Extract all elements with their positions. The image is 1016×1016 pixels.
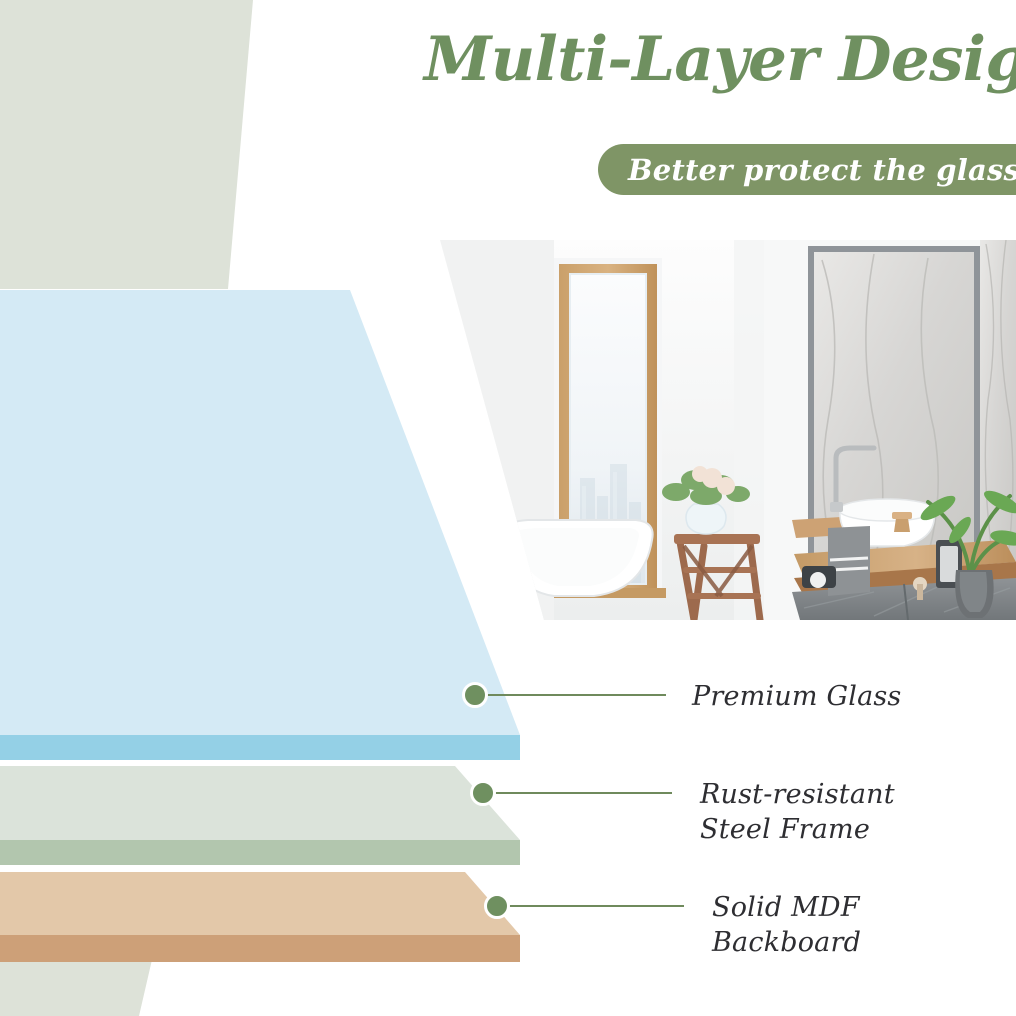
- callout-dot-premium-glass[interactable]: [462, 682, 488, 708]
- callout-line-mdf-backboard: [506, 905, 684, 907]
- callout-dot-mdf-backboard[interactable]: [484, 893, 510, 919]
- callout-label-mdf-backboard: Solid MDF Backboard: [712, 891, 1012, 960]
- infographic-canvas: Multi-Layer Design Better protect the gl…: [0, 0, 1016, 1016]
- callout-line-steel-frame: [492, 792, 672, 794]
- callout-label-premium-glass: Premium Glass: [692, 680, 992, 715]
- callout-label-steel-frame: Rust-resistant Steel Frame: [700, 778, 950, 847]
- callout-dot-steel-frame[interactable]: [470, 780, 496, 806]
- callout-group: Premium Glass Rust-resistant Steel Frame…: [0, 0, 1016, 1016]
- callout-line-premium-glass: [480, 694, 666, 696]
